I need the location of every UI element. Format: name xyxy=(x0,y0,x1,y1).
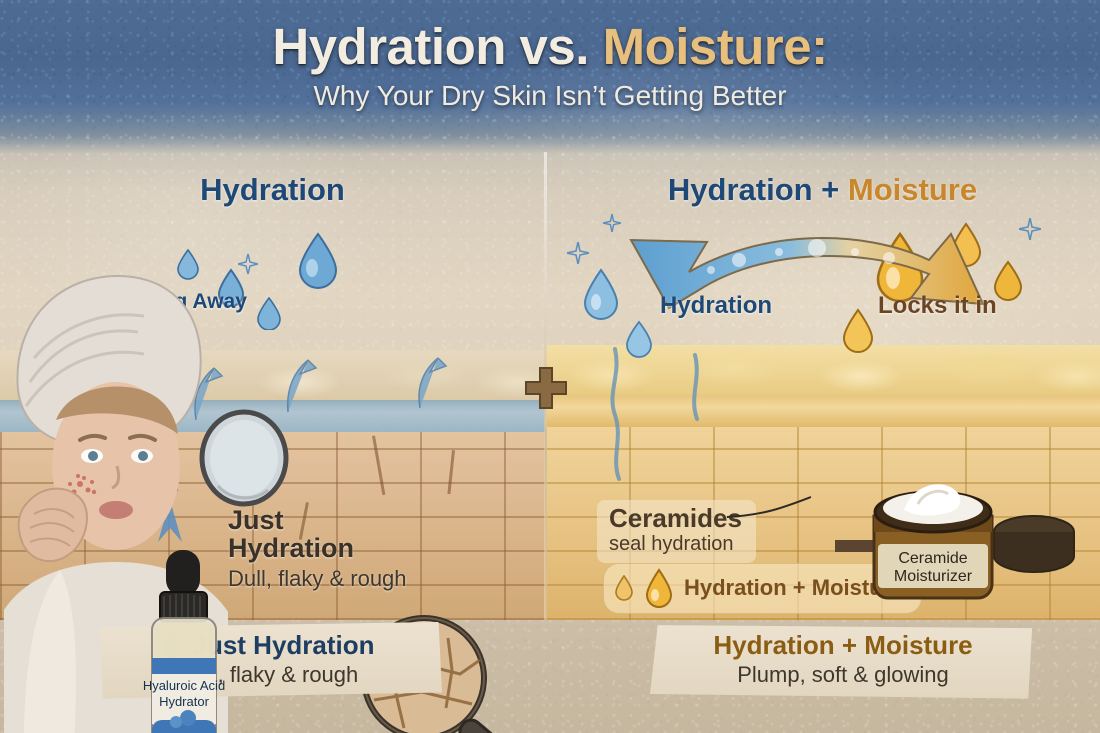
banner-right-subtitle: Plump, soft & glowing xyxy=(668,662,1018,688)
bottle-label-line-1: Hyaluroic Acid xyxy=(143,678,225,693)
ceramide-moisturizer-jar: Ceramide Moisturizer xyxy=(862,468,1076,618)
sparkle-icon xyxy=(1019,218,1041,240)
header: Hydration vs. Moisture: Why Your Dry Ski… xyxy=(0,0,1100,150)
left-panel-heading: Hydration xyxy=(0,172,545,208)
ceramides-subtitle: seal hydration xyxy=(609,533,742,556)
plus-symbol-badge xyxy=(524,366,568,410)
bottle-label-line-2: Hydrator xyxy=(159,694,210,709)
arrow-label-hydration: Hydration xyxy=(660,292,772,320)
right-heading-text-hydration: Hydration + xyxy=(668,172,848,207)
jar-label-line-2: Moisturizer xyxy=(894,568,973,585)
arrow-label-locks-it-in: Locks it in xyxy=(878,292,997,320)
infographic-root: Hydration vs. Moisture: Why Your Dry Ski… xyxy=(0,0,1100,733)
ceramides-title: Ceramides xyxy=(609,505,742,532)
oil-droplet-icon xyxy=(644,568,674,608)
hand-mirror-icon xyxy=(196,408,292,528)
sparkle-icon xyxy=(238,254,258,274)
water-droplet-icon xyxy=(256,296,282,330)
water-droplet-icon xyxy=(625,320,653,358)
callout-line-2: Hydration xyxy=(228,533,354,563)
page-title: Hydration vs. Moisture: xyxy=(0,0,1100,74)
panel-hydration-plus-moisture: Hydration + Moisture Hydration Locks it … xyxy=(545,150,1100,620)
left-heading-text: Hydration xyxy=(200,172,345,207)
panel-hydration-only: Hydration Evaporating Away xyxy=(0,150,545,620)
serum-bottle: Hyaluroic Acid Hydrator xyxy=(130,548,238,733)
banner-hydration-moisture: Hydration + Moisture Plump, soft & glowi… xyxy=(650,622,1036,699)
callout-subtext: Dull, flaky & rough xyxy=(228,566,407,592)
page-subtitle: Why Your Dry Skin Isn’t Getting Better xyxy=(0,80,1100,112)
title-text-accent: Moisture: xyxy=(603,18,828,75)
right-panel-heading: Hydration + Moisture xyxy=(545,172,1100,208)
title-text-main: Hydration vs. xyxy=(272,18,602,75)
jar-label-line-1: Ceramide xyxy=(898,550,967,567)
banner-right-title: Hydration + Moisture xyxy=(713,631,972,660)
water-droplet-icon xyxy=(296,232,340,290)
sparkle-icon xyxy=(567,242,589,264)
right-heading-text-moisture: Moisture xyxy=(848,172,977,207)
oil-droplet-icon xyxy=(614,575,634,601)
